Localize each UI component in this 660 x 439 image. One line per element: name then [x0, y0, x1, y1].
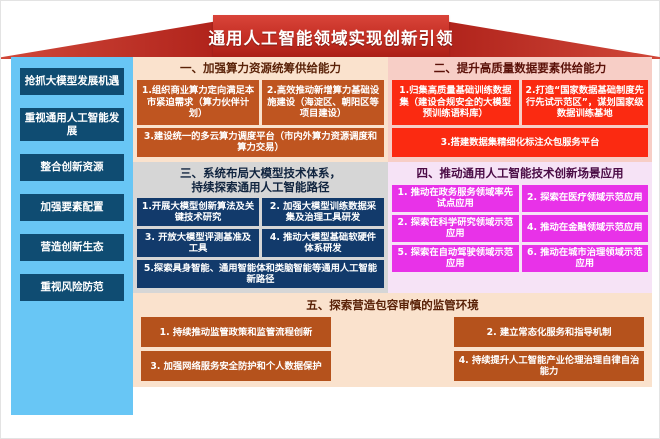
section-5-item-1[interactable]: 1. 持续推动监管政策和监管流程创新: [141, 317, 331, 347]
section-2-data-supply: 二、提升高质量数据要素供给能力 1.归集高质量基础训练数据集（建设合规安全的大模…: [388, 57, 652, 162]
section-2-item-1[interactable]: 1.归集高质量基础训练数据集（建设合规安全的大模型预训练语料库）: [392, 80, 519, 125]
section-3-heading-line2: 持续探索通用人工智能路径: [135, 181, 386, 195]
section-4-heading: 四、推动通用人工智能技术创新场景应用: [388, 162, 652, 185]
ribbon-tail-right: [445, 15, 660, 59]
sidebar-item-1[interactable]: 重视通用人工智能发展: [20, 108, 124, 141]
section-5-item-2[interactable]: 2. 建立常态化服务和指导机制: [454, 317, 644, 347]
panel-row-middle: 三、系统布局大模型技术体系， 持续探索通用人工智能路径 1.开展大模型创新算法及…: [133, 162, 652, 294]
section-4-item-4[interactable]: 4. 推动在金融领域示范应用: [522, 215, 649, 242]
panel-row-bottom: 五、探索营造包容审慎的监管环境 1. 持续推动监管政策和监管流程创新 2. 建立…: [133, 293, 652, 387]
section-4-item-6[interactable]: 6. 推动在城市治理领域示范应用: [522, 245, 649, 272]
section-5-items: 1. 持续推动监管政策和监管流程创新 2. 建立常态化服务和指导机制 3. 加强…: [133, 317, 652, 387]
section-1-item-2[interactable]: 2.高效推动新增算力基础设施建设（海淀区、朝阳区等项目建设）: [262, 80, 384, 125]
sidebar-item-label: 抢抓大模型发展机遇: [25, 75, 120, 88]
section-4-scenario-application: 四、推动通用人工智能技术创新场景应用 1. 推动在政务服务领域率先试点应用 2.…: [388, 162, 652, 294]
sidebar: 抢抓大模型发展机遇 重视通用人工智能发展 整合创新资源 加强要素配置 营造创新生…: [11, 57, 133, 415]
sidebar-item-label: 整合创新资源: [41, 161, 104, 174]
section-4-item-5[interactable]: 5. 探索在自动驾驶领域示范应用: [392, 245, 519, 272]
section-1-items: 1.组织商业算力定向满足本市紧迫需求（算力伙伴计划） 2.高效推动新增算力基础设…: [133, 80, 388, 162]
section-3-heading: 三、系统布局大模型技术体系， 持续探索通用人工智能路径: [133, 162, 388, 199]
section-5-regulatory-environment: 五、探索营造包容审慎的监管环境 1. 持续推动监管政策和监管流程创新 2. 建立…: [133, 293, 652, 387]
section-5-heading: 五、探索营造包容审慎的监管环境: [133, 293, 652, 317]
section-3-item-1[interactable]: 1.开展大模型创新算法及关键技术研究: [137, 198, 259, 226]
section-2-item-3[interactable]: 3.搭建数据集精细化标注众包服务平台: [392, 128, 648, 157]
section-1-heading: 一、加强算力资源统筹供给能力: [133, 57, 388, 80]
section-3-heading-line1: 三、系统布局大模型技术体系，: [135, 167, 386, 181]
section-2-heading: 二、提升高质量数据要素供给能力: [388, 57, 652, 80]
content-board: 抢抓大模型发展机遇 重视通用人工智能发展 整合创新资源 加强要素配置 营造创新生…: [11, 57, 652, 415]
panels: 一、加强算力资源统筹供给能力 1.组织商业算力定向满足本市紧迫需求（算力伙伴计划…: [133, 57, 652, 415]
title-ribbon: 通用人工智能领域实现创新引领: [1, 15, 660, 59]
section-3-items: 1.开展大模型创新算法及关键技术研究 2. 加强大模型训练数据采集及治理工具研发…: [133, 198, 388, 293]
page-title: 通用人工智能领域实现创新引领: [209, 25, 454, 49]
section-4-items: 1. 推动在政务服务领域率先试点应用 2. 探索在医疗领域示范应用 2. 探索在…: [388, 185, 652, 277]
ribbon-center: 通用人工智能领域实现创新引领: [213, 15, 449, 59]
section-2-items: 1.归集高质量基础训练数据集（建设合规安全的大模型预训练语料库） 2.打造“国家…: [388, 80, 652, 162]
section-4-item-3[interactable]: 2. 探索在科学研究领域示范应用: [392, 215, 519, 242]
section-3-tech-system: 三、系统布局大模型技术体系， 持续探索通用人工智能路径 1.开展大模型创新算法及…: [133, 162, 388, 294]
section-4-item-2[interactable]: 2. 探索在医疗领域示范应用: [522, 185, 649, 212]
section-4-item-1[interactable]: 1. 推动在政务服务领域率先试点应用: [392, 185, 519, 212]
panel-row-top: 一、加强算力资源统筹供给能力 1.组织商业算力定向满足本市紧迫需求（算力伙伴计划…: [133, 57, 652, 162]
sidebar-item-4[interactable]: 营造创新生态: [20, 234, 124, 261]
sidebar-item-2[interactable]: 整合创新资源: [20, 154, 124, 181]
ribbon-tail-left: [1, 15, 217, 59]
sidebar-item-5[interactable]: 重视风险防范: [20, 274, 124, 301]
section-2-item-2[interactable]: 2.打造“国家数据基础制度先行先试示范区”，谋划国家级数据训练基地: [522, 80, 649, 125]
section-5-item-4[interactable]: 4. 持续提升人工智能产业伦理治理自律自治能力: [454, 351, 644, 381]
sidebar-item-label: 营造创新生态: [41, 241, 104, 254]
sidebar-item-label: 重视通用人工智能发展: [22, 112, 122, 138]
section-5-item-3[interactable]: 3. 加强网络服务安全防护和个人数据保护: [141, 351, 331, 381]
section-3-item-4[interactable]: 4. 推动大模型基础软硬件体系研发: [262, 229, 384, 257]
section-3-item-2[interactable]: 2. 加强大模型训练数据采集及治理工具研发: [262, 198, 384, 226]
section-3-item-5[interactable]: 5.探索具身智能、通用智能体和类脑智能等通用人工智能新路径: [137, 260, 384, 288]
sidebar-item-label: 加强要素配置: [41, 201, 104, 214]
section-1-compute-supply: 一、加强算力资源统筹供给能力 1.组织商业算力定向满足本市紧迫需求（算力伙伴计划…: [133, 57, 388, 162]
infographic-frame: 通用人工智能领域实现创新引领 抢抓大模型发展机遇 重视通用人工智能发展 整合创新…: [0, 0, 660, 439]
section-1-item-1[interactable]: 1.组织商业算力定向满足本市紧迫需求（算力伙伴计划）: [137, 80, 259, 125]
section-3-item-3[interactable]: 3. 开放大模型评测基准及工具: [137, 229, 259, 257]
sidebar-item-label: 重视风险防范: [41, 281, 104, 294]
sidebar-item-3[interactable]: 加强要素配置: [20, 194, 124, 221]
section-1-item-3[interactable]: 3.建设统一的多云算力调度平台（市内外算力资源调度和算力交易）: [137, 128, 384, 157]
sidebar-item-0[interactable]: 抢抓大模型发展机遇: [20, 68, 124, 95]
